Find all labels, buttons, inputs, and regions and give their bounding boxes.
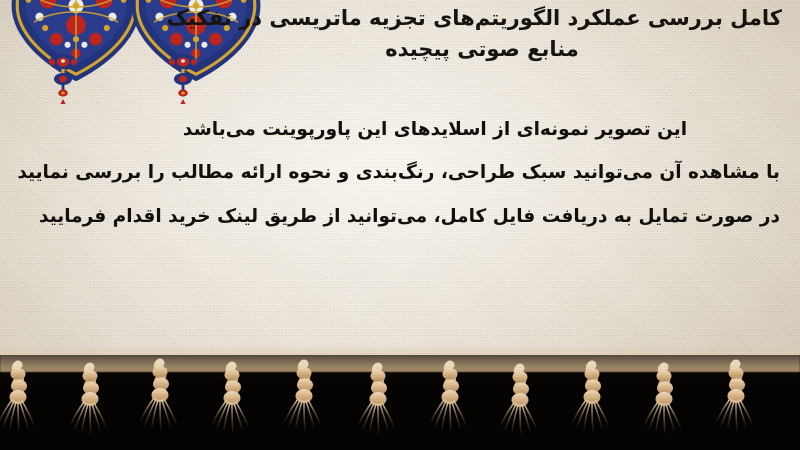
slide-title-line-1: کامل بررسی عملکرد الگوریتم‌های تجزیه مات… bbox=[182, 4, 782, 34]
carpet-tassel-fringe-icon bbox=[0, 355, 800, 450]
slide-body-line-1: این تصویر نمونه‌ای از اسلایدهای این پاور… bbox=[90, 108, 780, 151]
slide-title: کامل بررسی عملکرد الگوریتم‌های تجزیه مات… bbox=[182, 4, 782, 65]
slide-body-line-3: در صورت تمایل به دریافت فایل کامل، می‌تو… bbox=[90, 195, 780, 238]
slide-title-line-2: منابع صوتی پیچیده bbox=[182, 35, 782, 65]
persian-carpet-medallion-icon bbox=[6, 0, 146, 88]
persian-pendant-motif-icon bbox=[46, 52, 80, 112]
slide-canvas: کامل بررسی عملکرد الگوریتم‌های تجزیه مات… bbox=[0, 0, 800, 450]
slide-body-line-2: با مشاهده آن می‌توانید سبک طراحی، رنگ‌بن… bbox=[90, 151, 780, 194]
slide-body: این تصویر نمونه‌ای از اسلایدهای این پاور… bbox=[90, 108, 780, 238]
